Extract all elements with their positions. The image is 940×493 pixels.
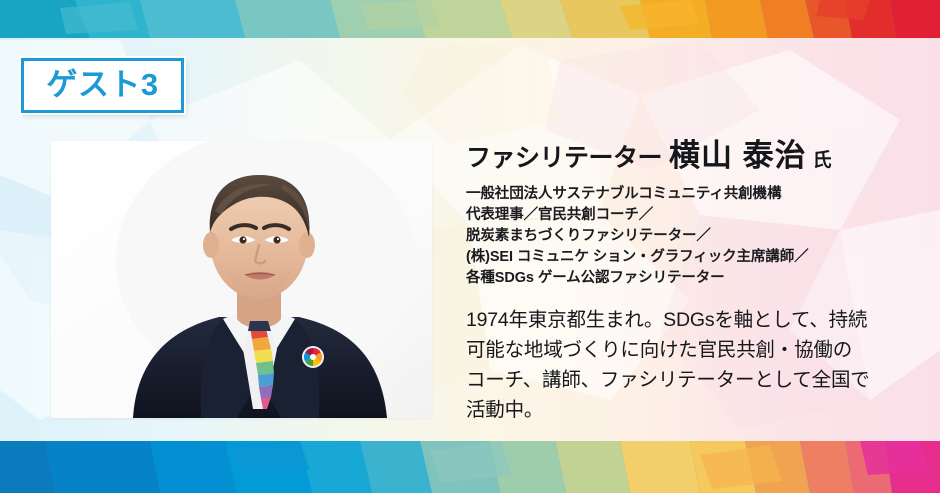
slide-root: ゲスト3 [0, 0, 940, 493]
biography-line: コーチ、講師、ファシリテーターとして全国で [466, 366, 918, 396]
bottom-color-band [0, 441, 940, 493]
affiliation-line: 代表理事／官民共創コーチ／ [466, 205, 918, 226]
speaker-role: ファシリテーター [466, 144, 662, 172]
speaker-affiliation: 一般社団法人サステナブルコミュニティ共創機構 代表理事／官民共創コーチ／ 脱炭素… [466, 184, 918, 289]
top-color-band [0, 0, 940, 38]
affiliation-line: 各種SDGs ゲーム公認ファシリテーター [466, 268, 918, 289]
affiliation-line: 一般社団法人サステナブルコミュニティ共創機構 [466, 184, 918, 205]
speaker-info-column: ファシリテーター横山 泰治氏 一般社団法人サステナブルコミュニティ共創機構 代表… [466, 140, 918, 426]
biography-line: 可能な地域づくりに向けた官民共創・協働の [466, 336, 918, 366]
speaker-honorific: 氏 [813, 150, 832, 171]
guest-number-badge: ゲスト3 [21, 58, 184, 113]
speaker-portrait-photo [51, 141, 432, 418]
affiliation-line: (株)SEI コミュニケ ション・グラフィック主席講師／ [466, 247, 918, 268]
guest-badge-label: ゲスト3 [46, 69, 158, 100]
speaker-headline: ファシリテーター横山 泰治氏 [466, 140, 918, 171]
biography-line: 1974年東京都生まれ。SDGsを軸として、持続 [466, 306, 918, 336]
biography-line: 活動中。 [466, 396, 918, 426]
speaker-biography: 1974年東京都生まれ。SDGsを軸として、持続 可能な地域づくりに向けた官民共… [466, 306, 918, 426]
affiliation-line: 脱炭素まちづくりファシリテーター／ [466, 226, 918, 247]
speaker-name: 横山 泰治 [669, 138, 807, 173]
